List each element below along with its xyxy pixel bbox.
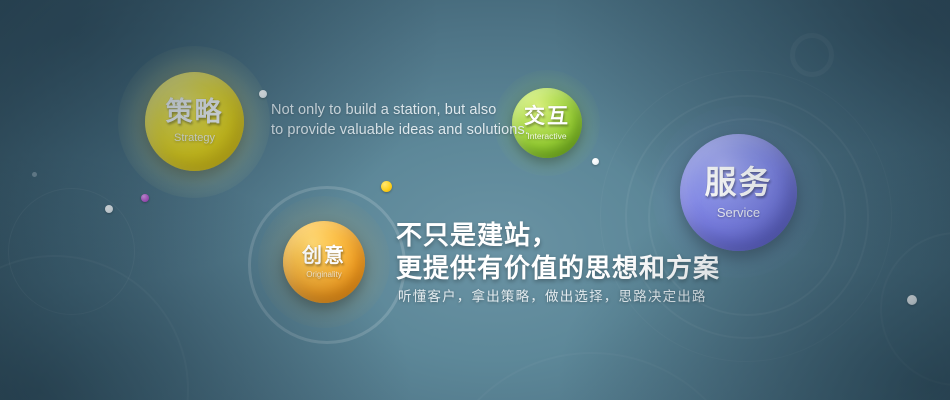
- sphere-originality-label-cn: 创意: [302, 246, 346, 266]
- tagline: Not only to build a station, but also to…: [271, 100, 531, 140]
- subtitle: 听懂客户，拿出策略，做出选择，思路决定出路: [398, 288, 707, 306]
- dot-white-upper-left: [259, 90, 267, 98]
- decorative-ring-top-right: [790, 33, 834, 77]
- dot-yellow-center: [381, 181, 392, 192]
- decorative-ring-bottom-center: [430, 352, 754, 400]
- sphere-strategy-label-cn: 策略: [166, 99, 224, 126]
- tagline-line-1: Not only to build a station, but also: [271, 100, 531, 120]
- sphere-strategy[interactable]: 策略 Strategy: [145, 72, 244, 171]
- sphere-strategy-label-en: Strategy: [174, 133, 215, 144]
- background-vignette: [0, 0, 950, 400]
- sphere-originality-label-en: Originality: [306, 271, 342, 279]
- headline-line-2: 更提供有价值的思想和方案: [396, 252, 720, 285]
- page-title: 不只是建站， 更提供有价值的思想和方案: [396, 219, 720, 285]
- decorative-ring-left: [8, 188, 135, 315]
- dot-white-left: [105, 205, 113, 213]
- sphere-interactive-label-en: Interactive: [527, 132, 566, 141]
- sphere-service-label-en: Service: [717, 206, 760, 219]
- sphere-service-label-cn: 服务: [704, 166, 772, 198]
- hero-banner: 策略 Strategy 交互 Interactive 创意 Originalit…: [0, 0, 950, 400]
- tagline-line-2: to provide valuable ideas and solutions.: [271, 120, 531, 140]
- sphere-originality[interactable]: 创意 Originality: [283, 221, 365, 303]
- dot-gray-left: [32, 172, 37, 177]
- dot-white-center: [592, 158, 599, 165]
- decorative-ring-right-edge: [880, 232, 950, 386]
- decorative-ring-bottom-left: [0, 255, 189, 400]
- dot-purple-left: [141, 194, 149, 202]
- headline-line-1: 不只是建站，: [396, 219, 720, 252]
- dot-white-lower-right: [907, 295, 917, 305]
